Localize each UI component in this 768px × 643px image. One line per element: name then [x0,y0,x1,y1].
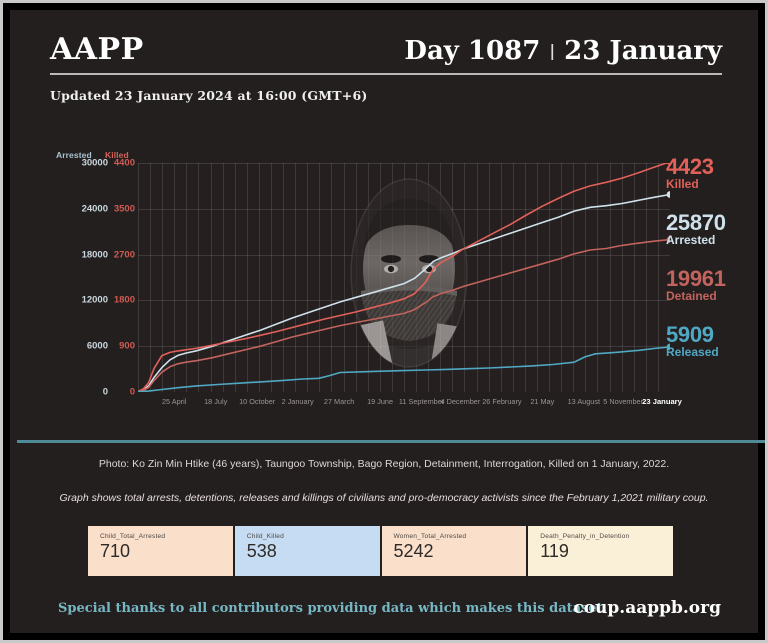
stat-card-label: Women_Total_Arrested [394,533,517,540]
x-tick-label: 11 September [399,397,444,406]
x-tick-label: 25 April [162,397,186,406]
x-tick-label: 19 June [367,397,393,406]
x-axis-ticks: 25 April18 July10 October2 January27 Mar… [138,397,670,413]
updated-timestamp: Updated 23 January 2024 at 16:00 (GMT+6) [50,88,722,103]
x-tick-label: 5 November [603,397,643,406]
stat-card: Child_Killed538 [235,526,382,576]
stat-card-value: 710 [100,542,223,560]
x-tick-label: 13 August [568,397,600,406]
stat-card-value: 119 [540,542,663,560]
header: AAPP Day 1087 | 23 January Updated 23 Ja… [50,32,722,103]
header-divider [50,73,722,75]
value-detained: 19961 Detained [666,268,726,304]
header-row: AAPP Day 1087 | 23 January [50,32,722,73]
stat-card-label: Child_Total_Arrested [100,533,223,540]
day-counter: Day 1087 | 23 January [404,36,722,66]
graph-caption: Graph shows total arrests, detentions, r… [10,492,758,504]
photo-caption: Photo: Ko Zin Min Htike (46 years), Taun… [10,458,758,470]
footer: Special thanks to all contributors provi… [10,598,758,628]
chart: Arrested Killed 060001200018000240003000… [50,150,740,418]
value-released-number: 5909 [666,324,719,346]
series-lines [138,163,670,392]
series-line-detained [138,240,670,392]
stat-card: Women_Total_Arrested5242 [382,526,529,576]
stat-card-value: 5242 [394,542,517,560]
value-detained-number: 19961 [666,268,726,290]
stat-card: Child_Total_Arrested710 [88,526,235,576]
dashboard-root: AAPP Day 1087 | 23 January Updated 23 Ja… [0,0,768,643]
stat-card-label: Death_Penalty_in_Detention [540,533,663,540]
y-tick-right: 0 [100,387,135,398]
value-arrested-number: 25870 [666,212,726,234]
y-tick-right: 1800 [100,295,135,306]
plot-area [138,163,670,392]
thanks-text: Special thanks to all contributors provi… [58,601,607,616]
brand-title: AAPP [50,32,144,67]
value-killed: 4423 Killed [666,156,714,192]
series-line-killed [138,163,670,392]
x-tick-label: 4 December [441,397,481,406]
stat-card: Death_Penalty_in_Detention119 [528,526,673,576]
x-tick-label: 18 July [204,397,227,406]
value-released-label: Released [666,346,719,359]
y-tick-right: 4400 [100,158,135,169]
day-separator: | [549,41,555,60]
value-detained-label: Detained [666,290,726,303]
value-killed-number: 4423 [666,156,714,178]
x-tick-label: 2 January [282,397,314,406]
series-line-arrested [138,195,670,392]
value-killed-label: Killed [666,178,714,191]
x-tick-label: 10 October [239,397,275,406]
value-arrested-label: Arrested [666,234,726,247]
value-released: 5909 Released [666,324,719,360]
website-link[interactable]: coup.aappb.org [573,598,721,618]
y-tick-right: 900 [100,341,135,352]
section-divider [17,440,765,443]
x-tick-label: 27 March [324,397,354,406]
series-line-released [138,347,670,392]
x-tick-label: 26 February [482,397,521,406]
y-tick-right: 3500 [100,203,135,214]
stat-card-label: Child_Killed [247,533,370,540]
x-tick-label: 21 May [530,397,554,406]
y-tick-right: 2700 [100,249,135,260]
stat-card-value: 538 [247,542,370,560]
series-endpoint-arrested [667,191,670,198]
x-tick-label: 23 January [642,397,682,406]
content-panel: AAPP Day 1087 | 23 January Updated 23 Ja… [10,10,758,633]
header-date: 23 January [564,36,722,66]
value-arrested: 25870 Arrested [666,212,726,248]
stat-cards: Child_Total_Arrested710Child_Killed538Wo… [88,526,673,576]
day-number: Day 1087 [404,36,540,66]
